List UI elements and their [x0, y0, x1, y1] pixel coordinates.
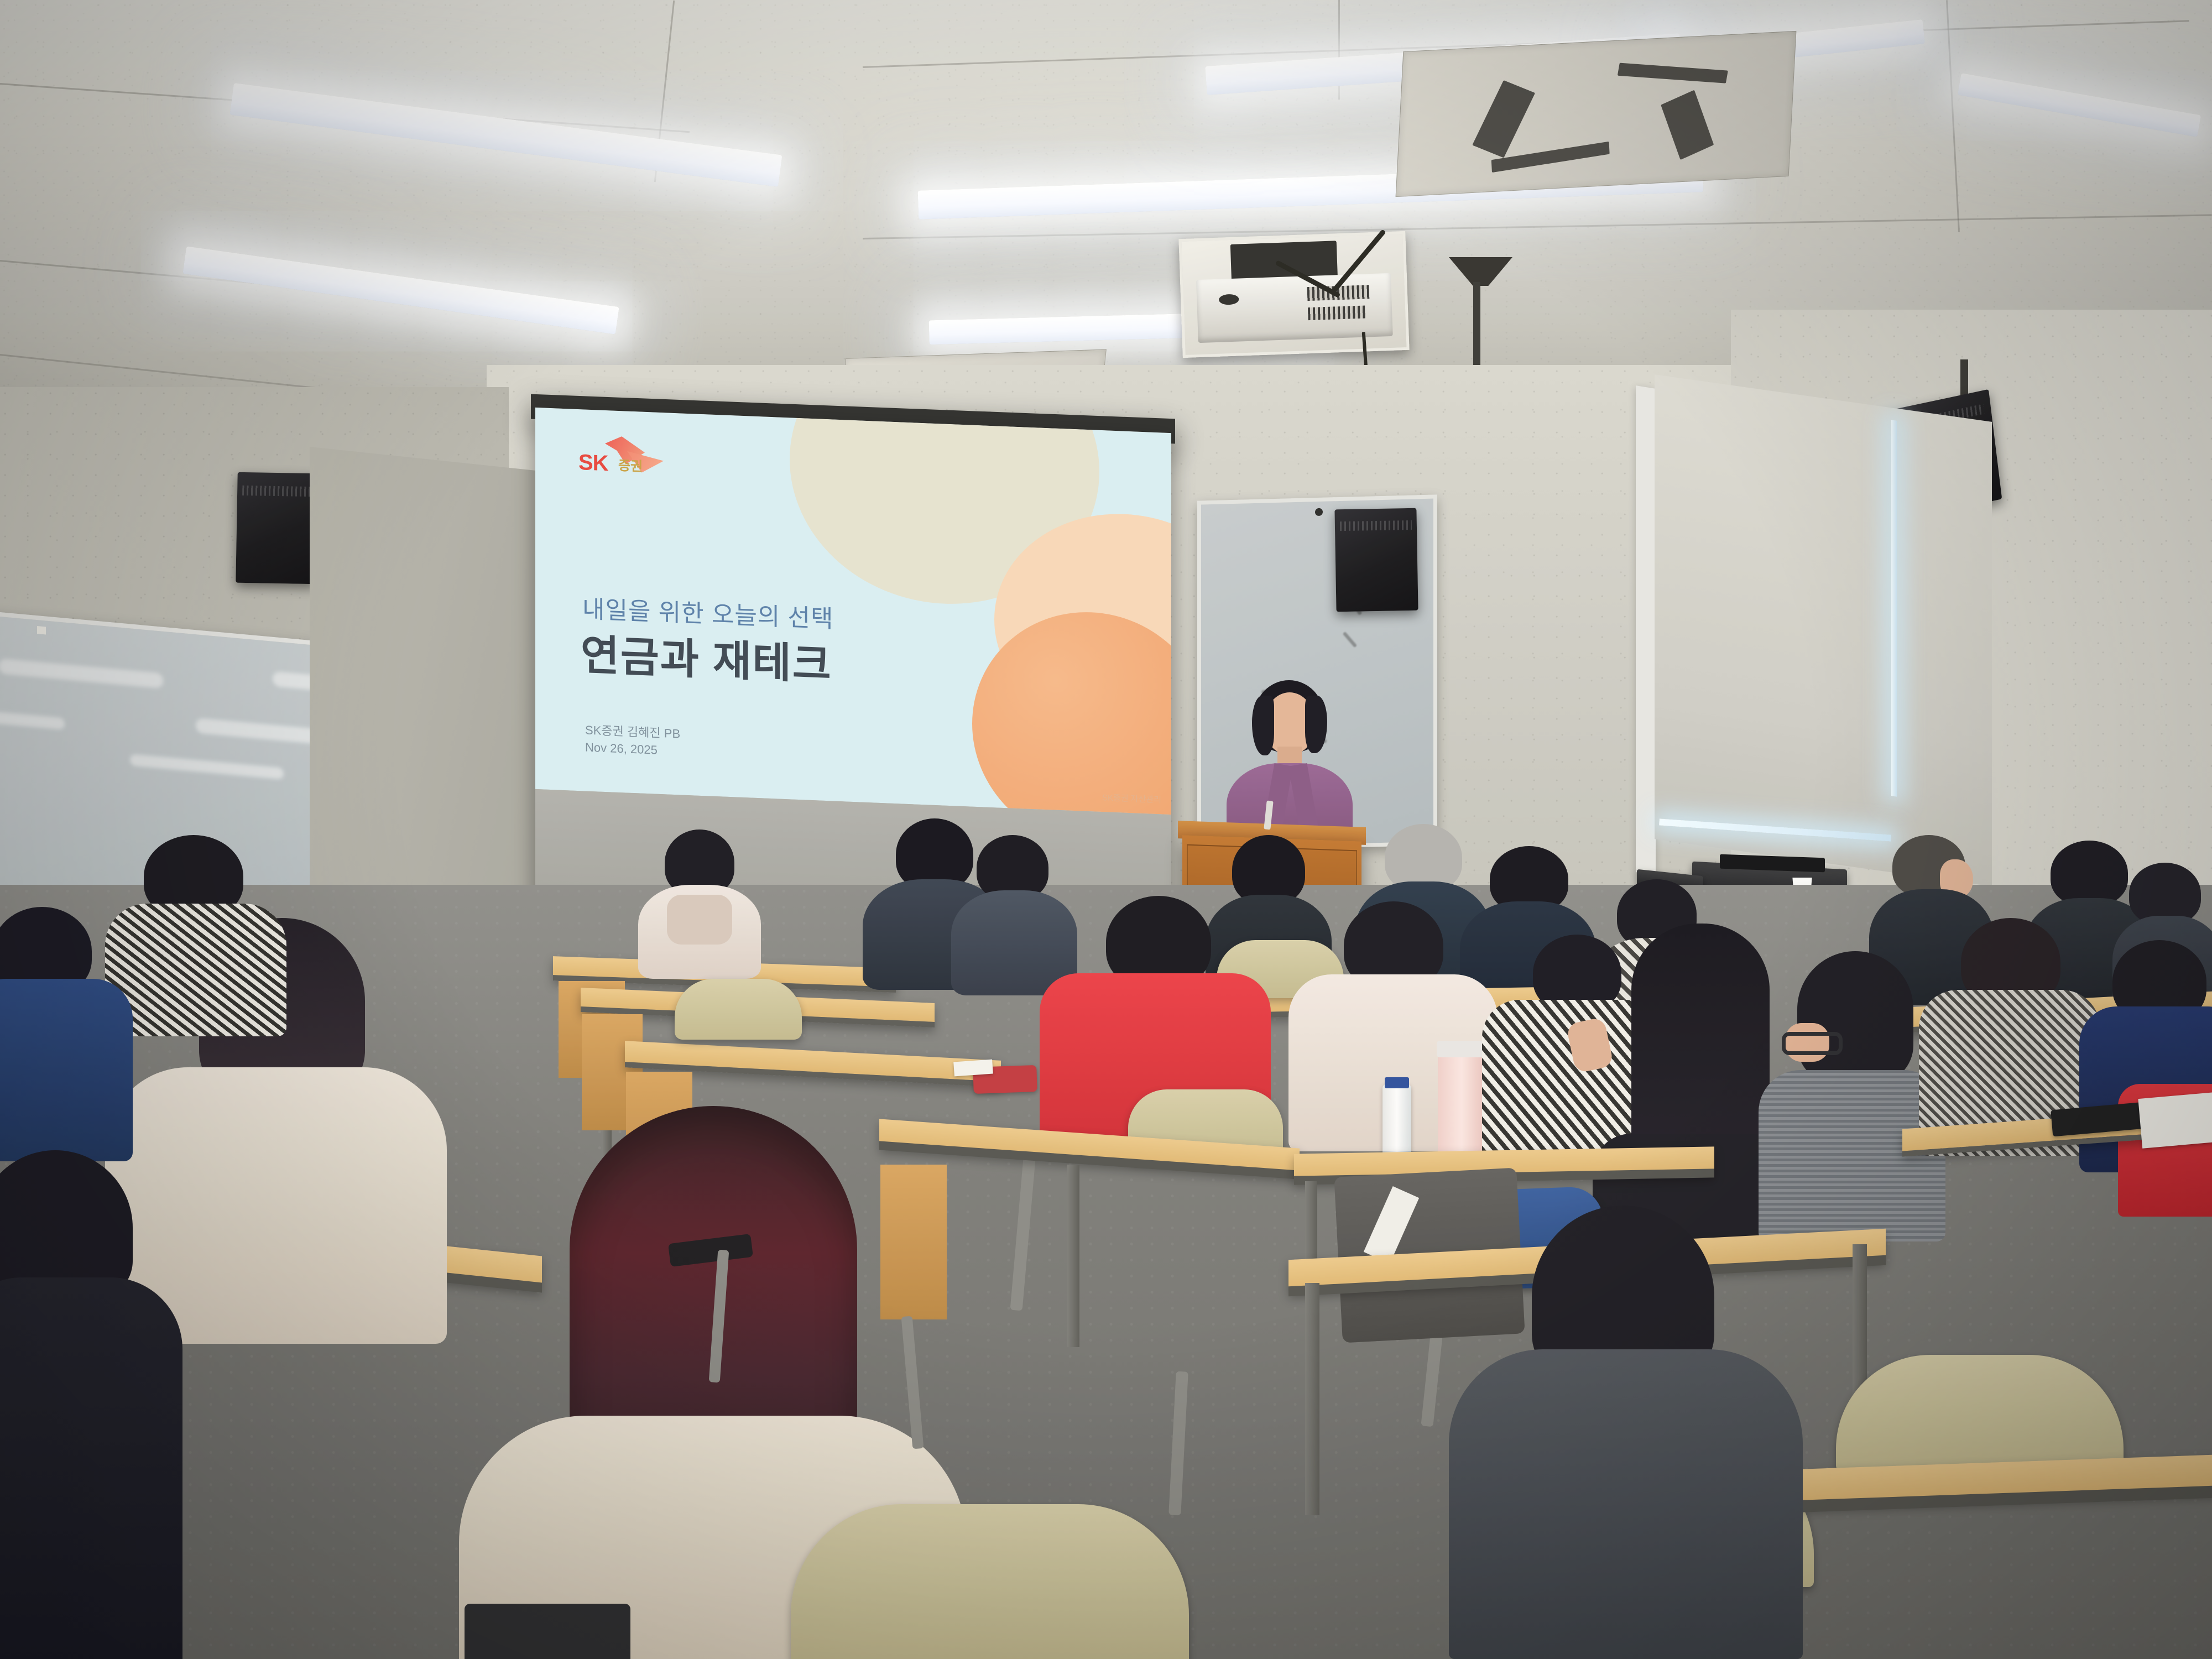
window-roller-blind[interactable] — [1655, 374, 1992, 886]
bottle-cap — [1385, 1077, 1409, 1088]
presenter-hair-side — [1252, 696, 1274, 755]
projector-housing — [1178, 231, 1409, 358]
presentation-slide: SK 증권 내일을 위한 오늘의 선택 연금과 재테크 SK증권 김혜진 PB … — [535, 408, 1171, 815]
tote-bag — [465, 1604, 630, 1659]
tumbler-lid — [1437, 1041, 1486, 1057]
window-daylight-gap — [1891, 420, 1897, 796]
presenter-hair-side — [1305, 696, 1327, 753]
paper-handout — [2138, 1091, 2212, 1149]
wall-speaker — [1334, 508, 1418, 612]
slide-corner-note: SK증권 자산관리 — [1102, 791, 1161, 805]
chair[interactable] — [675, 979, 802, 1040]
seminar-room-photo: SK 증권 내일을 위한 오늘의 선택 연금과 재테크 SK증권 김혜진 PB … — [0, 0, 2212, 1659]
audience-member — [1759, 951, 1947, 1239]
slide-presenter: SK증권 김혜진 PB — [585, 721, 680, 742]
audience-member — [1449, 1206, 1803, 1659]
sk-logo-wordmark: SK — [578, 451, 608, 474]
slide-title: 연금과 재테크 — [581, 620, 832, 691]
audience-member — [0, 1150, 182, 1659]
audience-member — [636, 830, 763, 973]
wall-speaker — [236, 472, 317, 585]
sk-logo: SK 증권 — [578, 437, 684, 488]
desk-leg — [1305, 1283, 1319, 1515]
chair[interactable] — [1836, 1355, 2124, 1471]
eyeglasses-icon — [1782, 1032, 1843, 1055]
audience-member — [0, 907, 133, 1156]
slide-date: Nov 26, 2025 — [585, 740, 658, 758]
desk-leg — [1067, 1165, 1079, 1347]
paper-handout — [953, 1060, 993, 1077]
sk-logo-sub: 증권 — [618, 460, 643, 474]
window-frame — [1636, 385, 1656, 875]
ac-diffuser — [1396, 31, 1797, 197]
chair[interactable] — [791, 1504, 1189, 1659]
